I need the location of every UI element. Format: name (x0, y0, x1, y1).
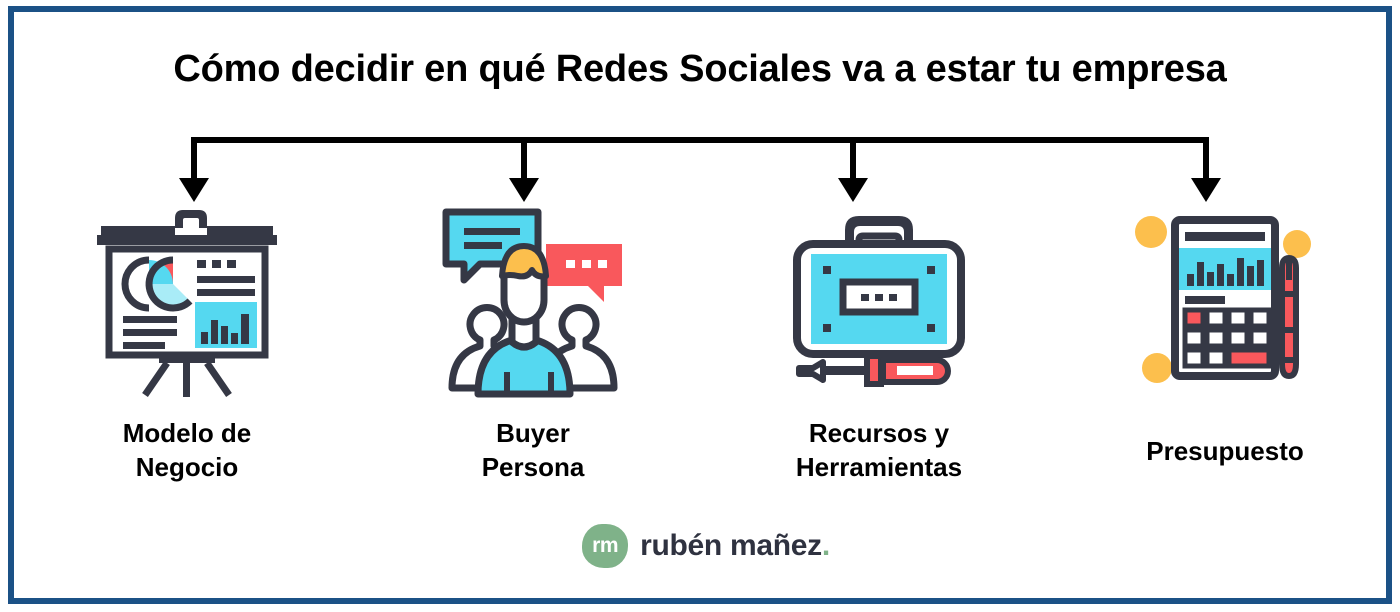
logo-dot: . (822, 529, 830, 562)
pillar-label-line2: Persona (482, 450, 585, 484)
pillar-label: Recursos y Herramientas (796, 416, 962, 485)
pillar-label-line1: Buyer (482, 416, 585, 450)
pillar-label-line1: Recursos y (796, 416, 962, 450)
pillar-presupuesto[interactable]: Presupuesto (1052, 194, 1398, 485)
orange-dot-icon (1142, 353, 1172, 383)
toolbox-icon (779, 194, 979, 406)
logo-wordmark: rubén mañez. (640, 529, 830, 563)
pillar-label-line1: Presupuesto (1146, 434, 1304, 468)
pillar-label-line2: Herramientas (796, 450, 962, 484)
pillar-label-line2: Negocio (123, 450, 252, 484)
logo-name: rubén mañez (640, 529, 822, 562)
calculator-icon (1125, 194, 1325, 406)
page-title: Cómo decidir en qué Redes Sociales va a … (14, 48, 1386, 91)
pillar-buyer-persona[interactable]: Buyer Persona (360, 194, 706, 485)
pillar-label-line1: Modelo de (123, 416, 252, 450)
orange-dot-icon (1135, 216, 1167, 248)
pillar-label: Presupuesto (1146, 434, 1304, 468)
orange-dot-icon (1283, 230, 1311, 258)
pillar-label: Modelo de Negocio (123, 416, 252, 485)
pillar-label: Buyer Persona (482, 416, 585, 485)
pillars-row: Modelo de Negocio (14, 194, 1398, 485)
buyer-persona-icon (438, 194, 628, 406)
pillar-modelo-de-negocio[interactable]: Modelo de Negocio (14, 194, 360, 485)
pillar-recursos-herramientas[interactable]: Recursos y Herramientas (706, 194, 1052, 485)
logo-mark-icon: rm (582, 524, 628, 568)
brand-logo[interactable]: rm rubén mañez. (14, 524, 1398, 568)
infographic-frame: Cómo decidir en qué Redes Sociales va a … (8, 6, 1392, 604)
presentation-board-icon (87, 194, 287, 406)
